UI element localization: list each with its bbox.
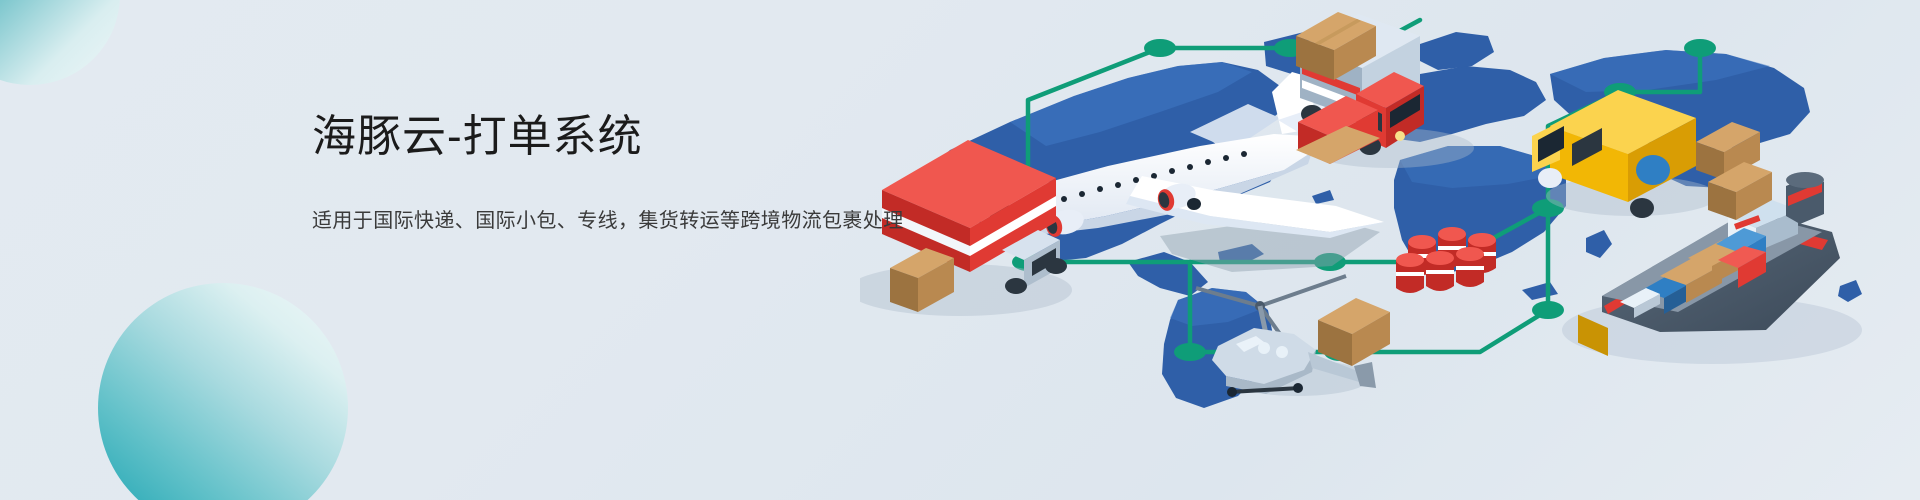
- oil-barrel-row-front: [1396, 247, 1484, 293]
- logistics-illustration-svg: [860, 0, 1920, 500]
- cardboard-boxes-lower: [1318, 298, 1390, 366]
- network-node-2: [1144, 39, 1176, 57]
- cargo-ship-funnel-top: [1786, 172, 1824, 188]
- page-subtitle: 适用于国际快递、国际小包、专线，集货转运等跨境物流包裹处理: [312, 166, 904, 235]
- helicopter-skid-dot-2: [1293, 383, 1303, 393]
- hero-banner: 海豚云-打单系统 适用于国际快递、国际小包、专线，集货转运等跨境物流包裹处理: [0, 0, 1920, 500]
- yellow-van-wheel-front: [1538, 168, 1562, 188]
- map-island-a: [1522, 282, 1558, 300]
- map-scandinavia: [1418, 32, 1494, 70]
- map-madagascar: [1586, 230, 1612, 258]
- oil-barrel-5: [1426, 251, 1454, 291]
- helicopter-window-2: [1258, 342, 1270, 354]
- page-title: 海豚云-打单系统: [312, 108, 904, 166]
- cargo-plane-wheel-rear: [1187, 198, 1201, 210]
- logistics-illustration: [860, 0, 1920, 500]
- map-new-zealand: [1838, 280, 1862, 302]
- oil-barrel-6: [1456, 247, 1484, 287]
- helicopter-skid-dot-1: [1227, 387, 1237, 397]
- map-island-b: [1312, 190, 1334, 204]
- decorative-circle-bottom-left: [98, 283, 348, 500]
- network-node-9: [1684, 39, 1716, 57]
- helicopter-rotor-blade-1: [1260, 276, 1346, 306]
- yellow-van-wheel-rear: [1630, 198, 1654, 218]
- helicopter-window-3: [1276, 346, 1288, 358]
- red-semi-wheel-2: [1045, 258, 1067, 274]
- delivery-truck-headlight: [1395, 131, 1405, 141]
- network-node-11: [1174, 343, 1206, 361]
- yellow-van-logo: [1636, 155, 1670, 185]
- hero-text-block: 海豚云-打单系统 适用于国际快递、国际小包、专线，集货转运等跨境物流包裹处理: [312, 108, 904, 235]
- oil-barrel-4: [1396, 253, 1424, 293]
- red-semi-wheel-1: [1005, 278, 1027, 294]
- network-node-8: [1532, 301, 1564, 319]
- decorative-circle-top-left: [0, 0, 120, 85]
